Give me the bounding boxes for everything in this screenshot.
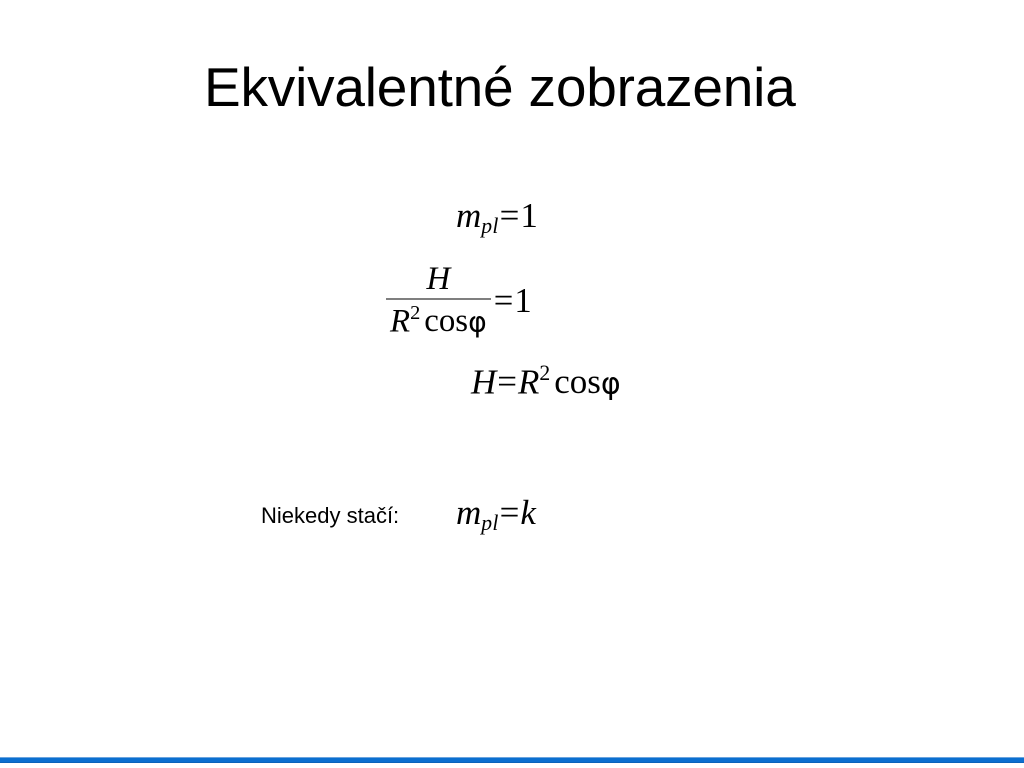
accent-rule-shadow <box>0 762 1024 763</box>
bottom-accent-rule <box>0 757 1024 763</box>
formula1-rhs: 1 <box>520 196 538 235</box>
denominator-base: R <box>390 303 410 339</box>
formula3-rhs-exponent: 2 <box>539 361 550 385</box>
formula2-rhs: 1 <box>514 281 531 320</box>
formula3-operator: = <box>497 362 517 401</box>
formula4-operator: = <box>500 493 520 532</box>
fraction-numerator: H <box>386 263 491 298</box>
formula-mpl-equals-k: mpl=k <box>456 495 536 535</box>
formula4-rhs: k <box>520 493 536 532</box>
denominator-function: cos <box>424 303 468 339</box>
fraction-denominator: R2cosφ <box>386 300 491 338</box>
formula3-lhs: H <box>471 362 496 401</box>
formula2-operator: = <box>494 281 514 320</box>
fraction-body: H R2cosφ <box>386 263 491 338</box>
formula-h-equals-r2-cos-phi: H=R2cosφ <box>471 363 621 400</box>
formula1-variable: m <box>456 196 481 235</box>
formula-fraction-equals-one: H R2cosφ =1 <box>386 263 532 338</box>
caption-label: Niekedy stačí: <box>261 503 399 529</box>
formula3-argument-phi: φ <box>601 366 621 401</box>
denominator-exponent: 2 <box>410 302 420 324</box>
slide-canvas: Ekvivalentné zobrazenia mpl=1 H R2cosφ =… <box>0 0 1024 768</box>
formula4-variable: m <box>456 493 481 532</box>
formula1-subscript: pl <box>481 214 498 238</box>
formula2-rhs-group: =1 <box>491 284 532 319</box>
formula3-rhs-base: R <box>518 362 539 401</box>
fraction: H R2cosφ <box>386 263 491 338</box>
denominator-argument-phi: φ <box>468 305 487 338</box>
page-title: Ekvivalentné zobrazenia <box>204 58 796 117</box>
formula-mpl-equals-one: mpl=1 <box>456 198 538 238</box>
formula4-subscript: pl <box>481 511 498 535</box>
formula1-operator: = <box>500 196 520 235</box>
formula3-function: cos <box>554 362 601 401</box>
